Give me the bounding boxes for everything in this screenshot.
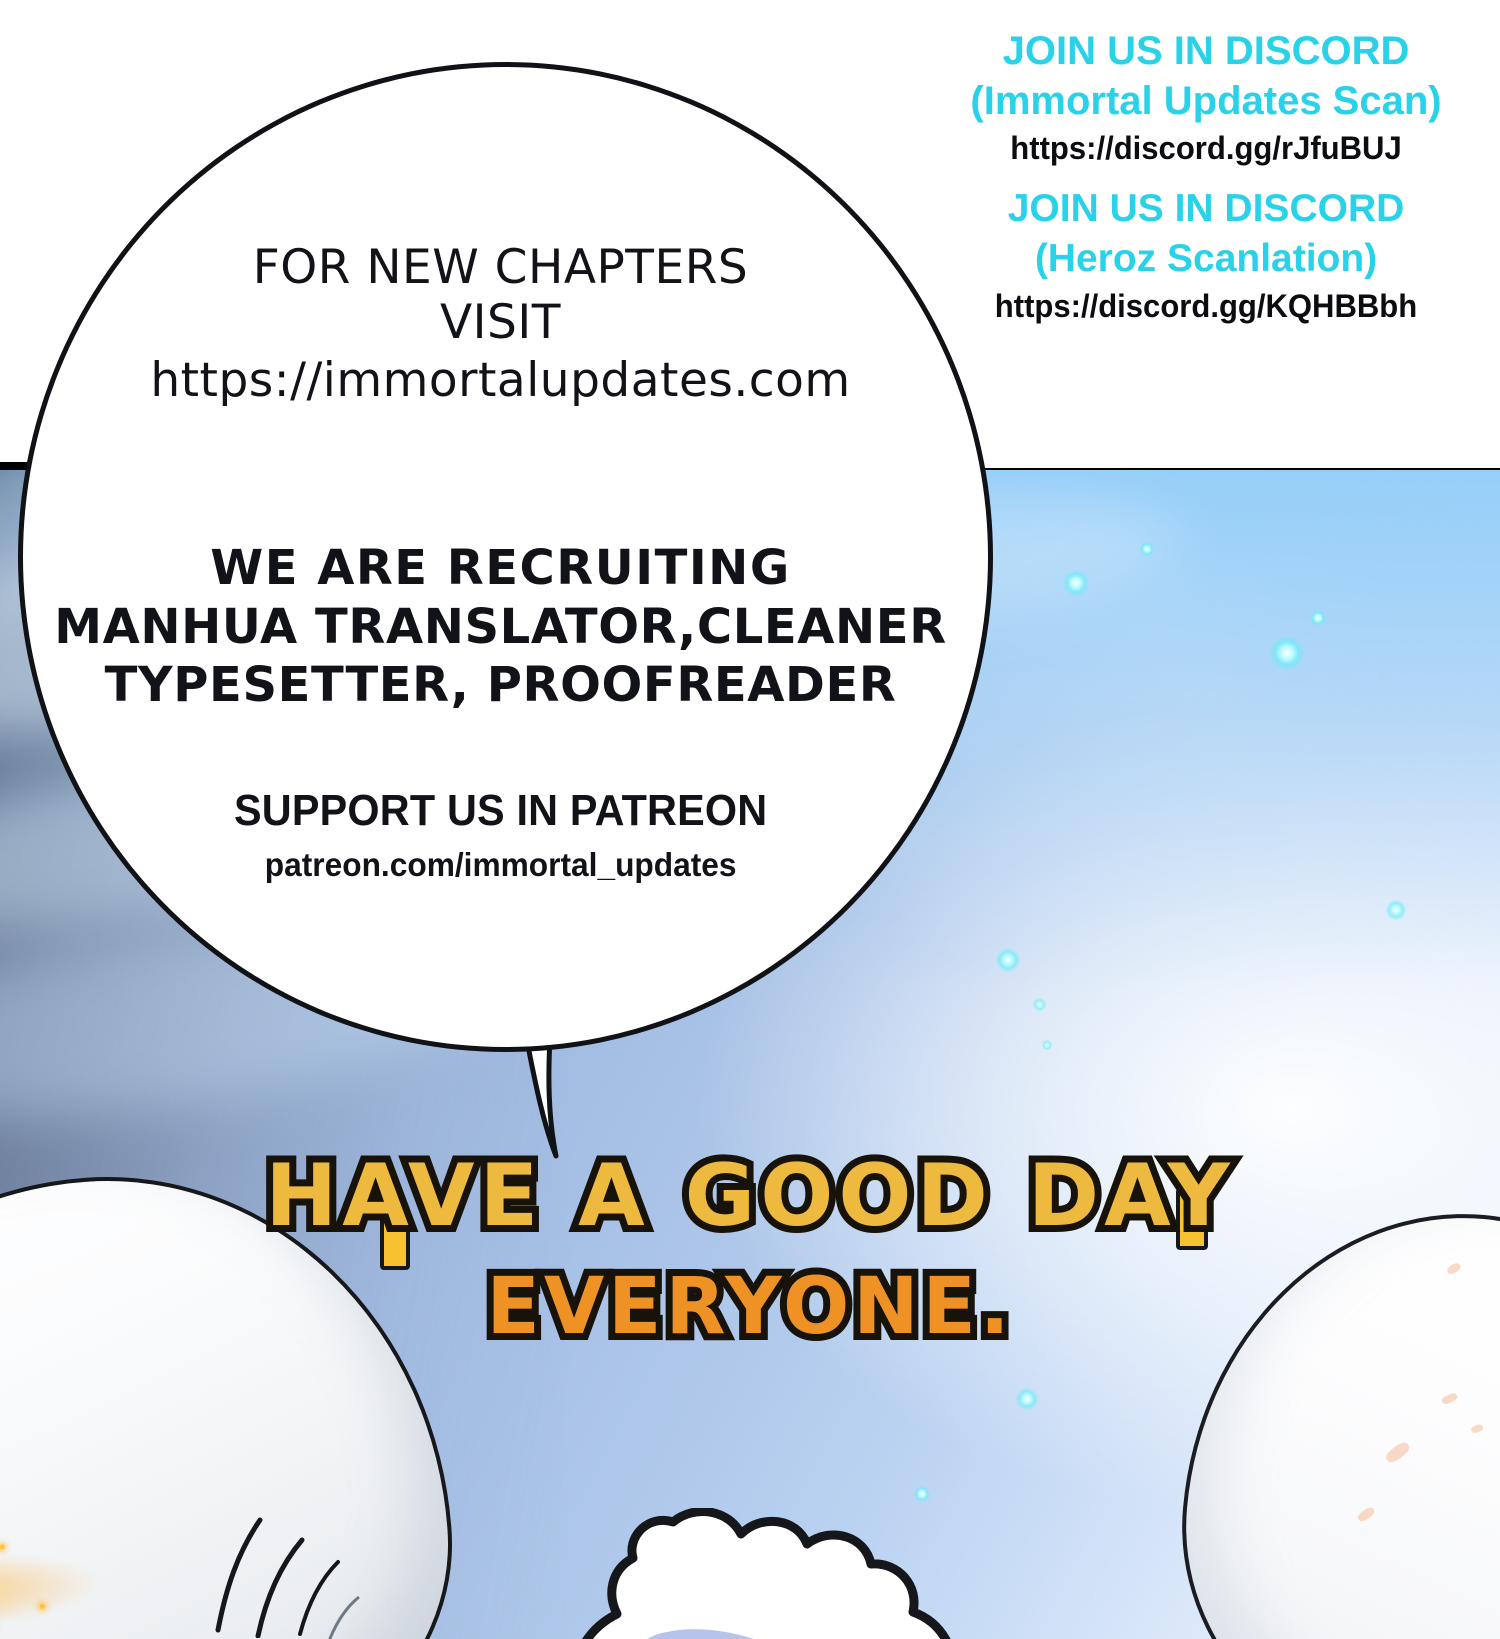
discord-block-1: JOIN US IN DISCORD (Immortal Updates Sca… — [926, 26, 1486, 170]
recruiting-line-2: MANHUA TRANSLATOR,CLEANER — [54, 598, 947, 656]
shout-line-2: EVERYONE. EVERYONE. — [487, 1262, 1014, 1352]
recruiting-line-1: WE ARE RECRUITING — [54, 538, 947, 598]
webtoon-page: HAVE A GOOD DAY HAVE A GOOD DAY EVERYONE… — [0, 0, 1500, 1639]
shout-line-2-wrap: EVERYONE. EVERYONE. — [0, 1262, 1500, 1352]
patreon-block: SUPPORT US IN PATREON patreon.com/immort… — [217, 786, 784, 888]
glow-particle — [914, 1486, 930, 1502]
discord-block-2: JOIN US IN DISCORD (Heroz Scanlation) ht… — [926, 184, 1486, 328]
recruiting-line-3: TYPESETTER, PROOFREADER — [54, 656, 947, 714]
shout-line-1-wrap: HAVE A GOOD DAY HAVE A GOOD DAY — [0, 1146, 1500, 1246]
new-chapters-url[interactable]: https://immortalupdates.com — [150, 350, 850, 412]
recruiting-block: WE ARE RECRUITING MANHUA TRANSLATOR,CLEA… — [54, 538, 947, 714]
character-hair — [555, 1508, 1025, 1639]
shout-line-2-fill: EVERYONE. — [487, 1262, 1014, 1352]
new-chapters-line-2: VISIT — [150, 295, 850, 350]
speech-bubble-text: FOR NEW CHAPTERS VISIT https://immortalu… — [18, 62, 983, 1042]
glow-particle — [1033, 998, 1046, 1011]
patreon-url[interactable]: patreon.com/immortal_updates — [228, 842, 773, 888]
shout-line-1: HAVE A GOOD DAY HAVE A GOOD DAY — [265, 1146, 1235, 1246]
discord-2-url[interactable]: https://discord.gg/KQHBBbh — [934, 284, 1477, 328]
new-chapters-line-1: FOR NEW CHAPTERS — [150, 240, 850, 295]
shout-line-1-fill: HAVE A GOOD DAY — [265, 1146, 1235, 1246]
new-chapters-block: FOR NEW CHAPTERS VISIT https://immortalu… — [150, 240, 850, 412]
glow-particle — [1042, 1040, 1052, 1050]
discord-1-title: JOIN US IN DISCORD — [926, 26, 1486, 76]
motion-lines — [196, 1448, 366, 1638]
cloud-right — [1161, 1191, 1500, 1639]
discord-2-title: JOIN US IN DISCORD — [926, 184, 1486, 234]
discord-1-subtitle: (Immortal Updates Scan) — [926, 76, 1486, 126]
patreon-heading: SUPPORT US IN PATREON — [234, 786, 767, 836]
discord-2-subtitle: (Heroz Scanlation) — [926, 234, 1486, 284]
discord-credits: JOIN US IN DISCORD (Immortal Updates Sca… — [926, 26, 1486, 328]
glow-particle — [1016, 1388, 1038, 1410]
discord-1-url[interactable]: https://discord.gg/rJfuBUJ — [934, 126, 1477, 170]
